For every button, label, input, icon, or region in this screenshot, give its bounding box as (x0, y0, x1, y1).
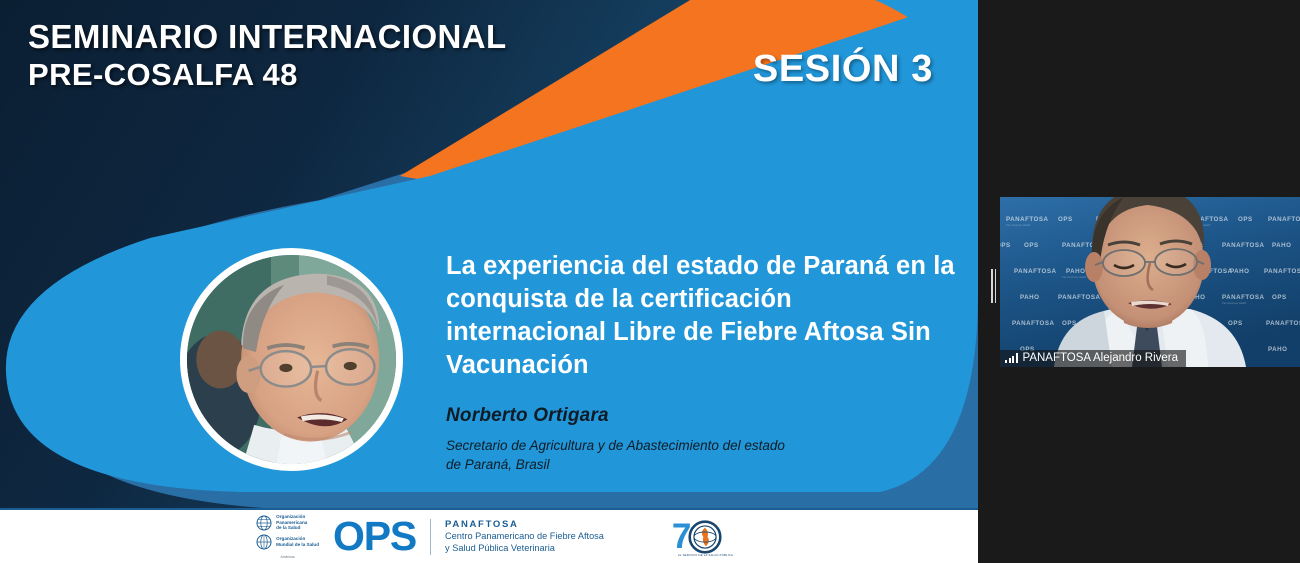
portrait-photo (187, 255, 396, 464)
panaftosa-title: PANAFTOSA (445, 519, 604, 531)
participant-name-text: PANAFTOSA Alejandro Rivera (1023, 352, 1179, 364)
speaker-name: Norberto Ortigara (446, 405, 958, 427)
who-paho-emblems: Organización Panamericana de la Salud (256, 514, 319, 558)
panaftosa-sub2: y Salud Pública Veterinaria (445, 543, 604, 555)
svg-text:PANAFTOSA: PANAFTOSA (1266, 320, 1300, 327)
who-emblem-text: Organización Mundial de la Salud (276, 536, 319, 547)
seminar-heading: SEMINARIO INTERNACIONAL PRE-COSALFA 48 (28, 20, 507, 90)
who-region-label: Américas (256, 555, 319, 559)
svg-text:Pan American Health: Pan American Health (1222, 301, 1247, 305)
ops-acronym: OPS (333, 516, 416, 557)
svg-text:OPS: OPS (1238, 216, 1253, 223)
svg-text:OPS: OPS (1024, 242, 1039, 249)
speaker-role-line2: de Paraná, Brasil (446, 455, 958, 474)
footer-logo-bar: Organización Panamericana de la Salud (0, 508, 978, 563)
svg-text:PANAFTOSA: PANAFTOSA (1222, 242, 1264, 249)
svg-text:OPS: OPS (1058, 216, 1073, 223)
svg-text:PANAFTOSA: PANAFTOSA (1268, 216, 1300, 223)
svg-text:PAHO: PAHO (1020, 294, 1039, 301)
footer-divider (430, 519, 431, 555)
paho-line3: de la Salud (276, 525, 307, 530)
anniversary-logo: 70 AL SERVICIO DE LA SALUD PÚBLICA (672, 519, 722, 554)
paho-emblem-row: Organización Panamericana de la Salud (256, 514, 319, 530)
svg-text:Pan American Health: Pan American Health (1006, 223, 1031, 227)
paho-globe-icon (256, 515, 272, 531)
svg-text:OPS: OPS (1272, 294, 1287, 301)
screen-root: SEMINARIO INTERNACIONAL PRE-COSALFA 48 S… (0, 0, 1300, 563)
presentation-slide: SEMINARIO INTERNACIONAL PRE-COSALFA 48 S… (0, 0, 978, 563)
paho-line1: Organización (276, 514, 307, 519)
svg-text:PAHO: PAHO (1066, 268, 1085, 275)
talk-block: La experiencia del estado de Paraná en l… (446, 250, 958, 474)
drag-handle-bar (995, 269, 997, 303)
drag-handle-bar (991, 269, 993, 303)
signal-strength-icon (1005, 353, 1018, 363)
svg-text:OPS: OPS (1228, 320, 1243, 327)
svg-text:PAHO: PAHO (1268, 346, 1287, 353)
seminar-title-line2: PRE-COSALFA 48 (28, 59, 507, 91)
panaftosa-block: PANAFTOSA Centro Panamericano de Fiebre … (445, 519, 604, 555)
svg-text:PANAFTOSA: PANAFTOSA (1014, 268, 1056, 275)
svg-text:PANAFTOSA: PANAFTOSA (1264, 268, 1300, 275)
svg-text:PAHO: PAHO (1230, 268, 1249, 275)
svg-text:PANAFTOSA: PANAFTOSA (1058, 294, 1100, 301)
anniversary-seal-icon (688, 520, 722, 554)
footer-inner: Organización Panamericana de la Salud (256, 514, 722, 558)
speaker-role-line1: Secretario de Agricultura y de Abastecim… (446, 436, 958, 455)
svg-text:PAHO: PAHO (1272, 242, 1291, 249)
who-emblem-row: Organización Mundial de la Salud (256, 534, 319, 550)
video-virtual-background: PANAFTOSA OPS PANAFTOSA PAHO PANAFTOSA O… (1000, 197, 1300, 367)
participant-name-badge: PANAFTOSA Alejandro Rivera (1000, 350, 1186, 367)
paho-emblem-text: Organización Panamericana de la Salud (276, 514, 307, 530)
session-label: SESIÓN 3 (753, 48, 933, 91)
svg-text:Pan American Health: Pan American Health (1062, 275, 1087, 279)
seminar-title-line1: SEMINARIO INTERNACIONAL (28, 20, 507, 54)
who-globe-icon (256, 534, 272, 550)
who-line2: Mundial de la Salud (276, 542, 319, 547)
svg-text:PANAFTOSA: PANAFTOSA (1222, 294, 1264, 301)
talk-title: La experiencia del estado de Paraná en l… (446, 250, 958, 383)
speaker-role: Secretario de Agricultura y de Abastecim… (446, 436, 958, 474)
participant-video-tile[interactable]: PANAFTOSA OPS PANAFTOSA PAHO PANAFTOSA O… (1000, 197, 1300, 367)
speaker-portrait (180, 248, 403, 471)
svg-text:PANAFTOSA: PANAFTOSA (1012, 320, 1054, 327)
panaftosa-sub1: Centro Panamericano de Fiebre Aftosa (445, 531, 604, 543)
svg-text:OPS: OPS (1000, 242, 1011, 249)
video-panel-drag-handle[interactable] (989, 268, 998, 304)
anniversary-caption: AL SERVICIO DE LA SALUD PÚBLICA (678, 553, 733, 557)
svg-text:PANAFTOSA: PANAFTOSA (1006, 216, 1048, 223)
